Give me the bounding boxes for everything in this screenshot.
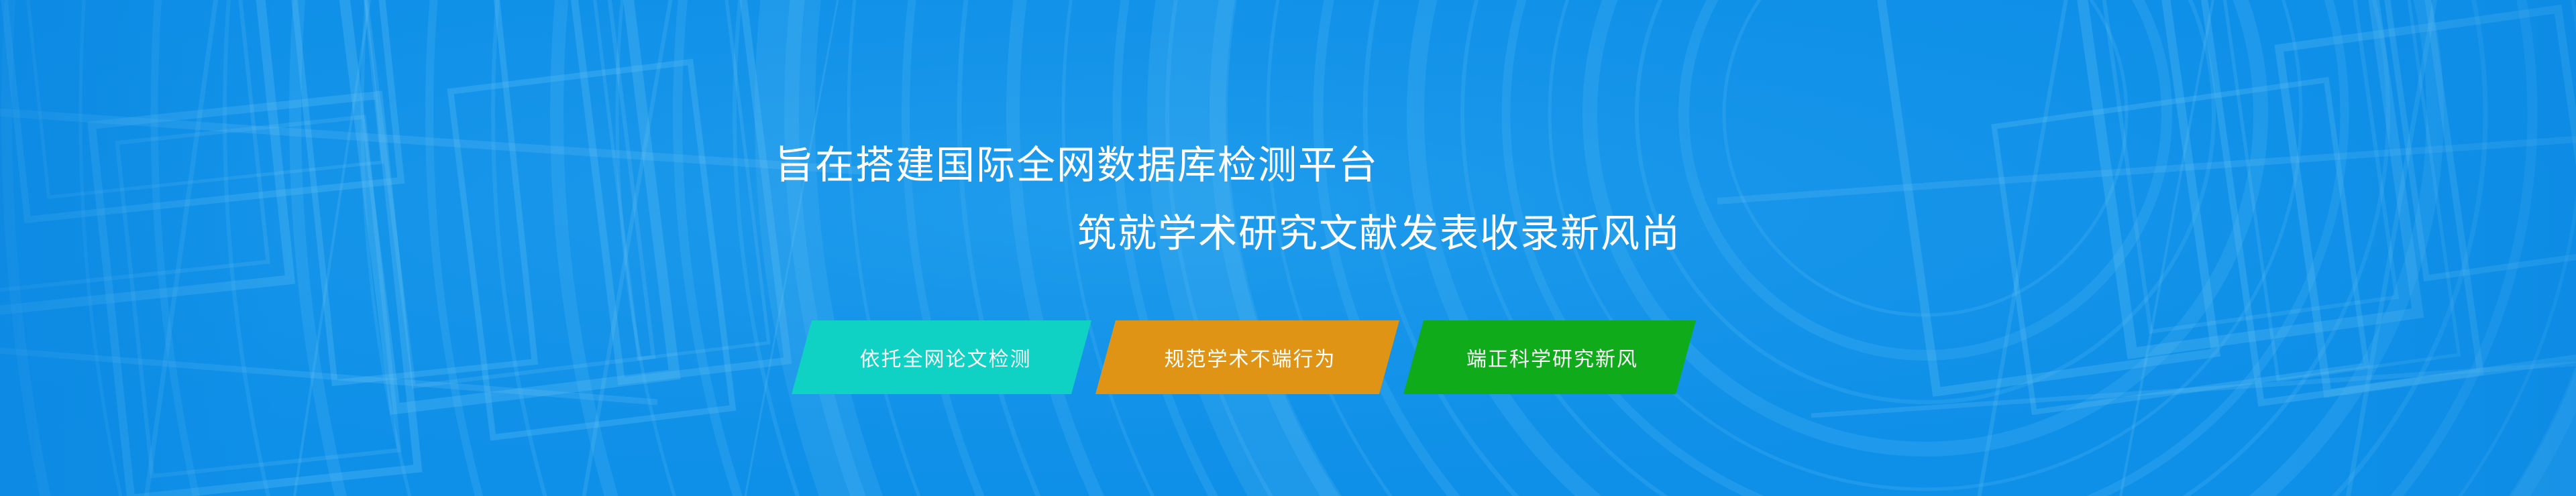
headline: 旨在搭建国际全网数据库检测平台 筑就学术研究文献发表收录新风尚	[0, 131, 2576, 268]
feature-tag-label: 端正科学研究新风	[1466, 343, 1638, 372]
feature-tag-bar: 依托全网论文检测 规范学术不端行为 端正科学研究新风	[792, 320, 1696, 394]
feature-tag-label: 依托全网论文检测	[860, 343, 1032, 372]
feature-tag-academic-misconduct[interactable]: 规范学术不端行为	[1095, 320, 1399, 394]
banner-content: 旨在搭建国际全网数据库检测平台 筑就学术研究文献发表收录新风尚 依托全网论文检测…	[0, 0, 2576, 496]
feature-tag-label: 规范学术不端行为	[1165, 343, 1336, 372]
headline-line-2: 筑就学术研究文献发表收录新风尚	[0, 200, 2576, 268]
feature-tag-research-ethics[interactable]: 端正科学研究新风	[1403, 320, 1696, 394]
promo-banner: 旨在搭建国际全网数据库检测平台 筑就学术研究文献发表收录新风尚 依托全网论文检测…	[0, 0, 2576, 496]
headline-line-1: 旨在搭建国际全网数据库检测平台	[0, 131, 2576, 200]
feature-tag-plagiarism-detection[interactable]: 依托全网论文检测	[792, 320, 1091, 394]
